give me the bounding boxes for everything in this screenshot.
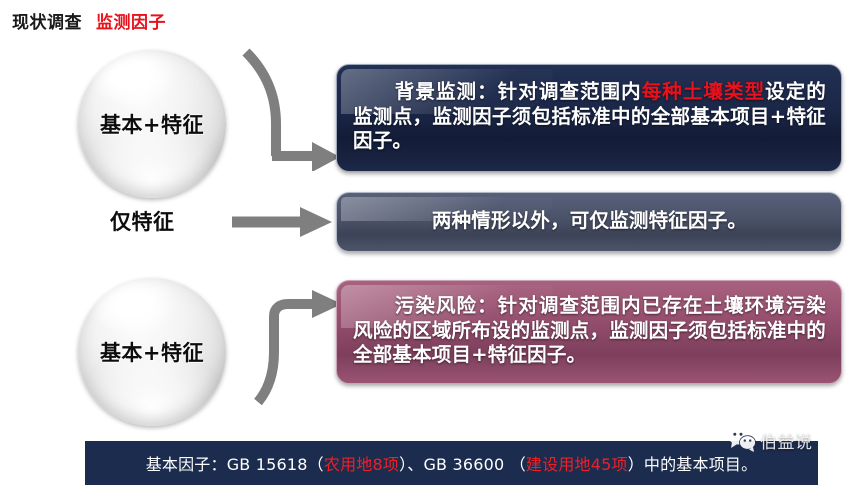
footer-note-bar: 基本因子：GB 15618（农用地8项）、GB 36600 （建设用地45项）中… (85, 441, 818, 485)
node-basic-plus-feature-bottom: 基本+特征 (78, 278, 226, 426)
footer-segment-highlight: 农用地8项 (324, 455, 399, 474)
callout-text: 背景监测：针对调查范围内每种土壤类型设定的监测点，监测因子须包括标准中的全部基本… (353, 80, 826, 155)
node-basic-plus-feature-top: 基本+特征 (78, 50, 226, 198)
page-title-highlight: 监测因子 (96, 13, 166, 33)
callout-text: 两种情形以外，可仅监测特征因子。 (353, 209, 826, 234)
footer-note-text: 基本因子：GB 15618（农用地8项）、GB 36600 （建设用地45项）中… (146, 451, 758, 475)
callout-segment: 背景监测：针对调查范围内 (394, 80, 642, 103)
footer-segment-highlight: 建设用地45项 (526, 455, 628, 474)
callout-segment: 污染风险：针对调查范围内已存在土壤环境污染风险的区域所布设的监测点，监测因子须包… (353, 294, 826, 367)
callout-segment: 两种情形以外，可仅监测特征因子。 (432, 209, 747, 232)
callout-segment-highlight: 每种土壤类型 (642, 80, 765, 103)
node-feature-only-label: 仅特征 (110, 206, 175, 236)
callout-box-other-cases: 两种情形以外，可仅监测特征因子。 (336, 192, 842, 252)
footer-segment: ）、GB 36600 （ (399, 455, 526, 474)
page-title-main: 现状调查 (12, 13, 82, 33)
wechat-icon (727, 427, 757, 453)
callout-text: 污染风险：针对调查范围内已存在土壤环境污染风险的区域所布设的监测点，监测因子须包… (353, 294, 826, 369)
arrow-middle-straight (228, 204, 338, 240)
page-title: 现状调查监测因子 (12, 8, 166, 33)
footer-segment: 基本因子：GB 15618（ (146, 455, 324, 474)
callout-box-background-monitoring: 背景监测：针对调查范围内每种土壤类型设定的监测点，监测因子须包括标准中的全部基本… (336, 64, 842, 172)
node-label: 基本+特征 (100, 109, 204, 139)
arrow-bottom-curved (250, 286, 350, 406)
watermark-text: 伯益说 (760, 428, 813, 453)
node-label: 基本+特征 (100, 337, 204, 367)
callout-box-pollution-risk: 污染风险：针对调查范围内已存在土壤环境污染风险的区域所布设的监测点，监测因子须包… (336, 280, 842, 384)
footer-segment: ）中的基本项目。 (628, 455, 758, 474)
arrow-top-curved (238, 46, 348, 171)
watermark: 伯益说 (727, 427, 813, 453)
